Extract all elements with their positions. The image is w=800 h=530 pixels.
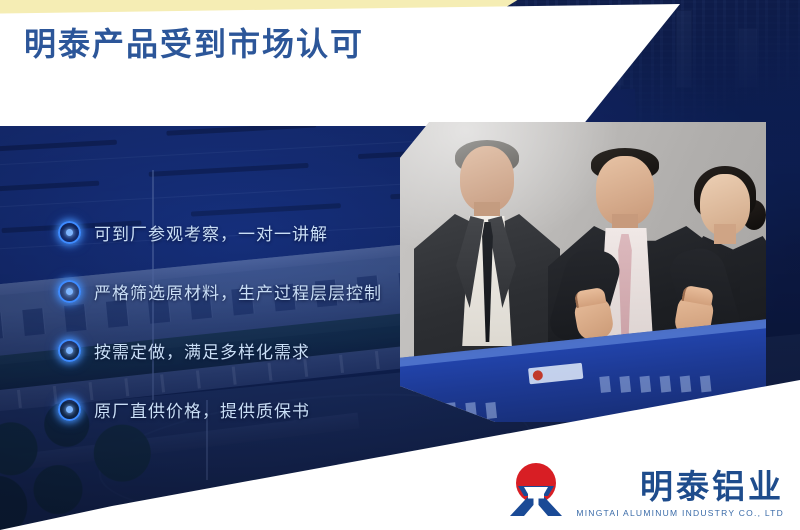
business-people-photo bbox=[400, 122, 766, 422]
feature-list: 可到厂参观考察，一对一讲解 严格筛选原材料，生产过程层层控制 按需定做，满足多样… bbox=[58, 216, 382, 425]
mingtai-sun-mountain-icon bbox=[504, 460, 568, 518]
target-circle-icon bbox=[58, 221, 81, 244]
target-circle-icon bbox=[58, 339, 81, 362]
feature-text: 严格筛选原材料，生产过程层层控制 bbox=[94, 279, 382, 304]
logo-wordmark: 明泰铝业 MINGTAI ALUMINUM INDUSTRY CO., LTD bbox=[576, 470, 784, 518]
company-logo[interactable]: 明泰铝业 MINGTAI ALUMINUM INDUSTRY CO., LTD bbox=[504, 460, 784, 518]
title-white-band bbox=[0, 4, 680, 126]
title-text: 明泰产品受到市场认可 bbox=[24, 27, 364, 62]
list-item: 可到厂参观考察，一对一讲解 bbox=[58, 216, 382, 248]
list-item: 按需定做，满足多样化需求 bbox=[58, 334, 382, 366]
logo-name-cn: 明泰铝业 bbox=[640, 470, 784, 503]
page-title: 明泰产品受到市场认可 bbox=[24, 27, 364, 62]
logo-name-en: MINGTAI ALUMINUM INDUSTRY CO., LTD bbox=[576, 508, 784, 518]
target-circle-icon bbox=[58, 280, 81, 303]
list-item: 严格筛选原材料，生产过程层层控制 bbox=[58, 275, 382, 307]
feature-text: 可到厂参观考察，一对一讲解 bbox=[94, 220, 328, 245]
promo-banner: 明泰产品受到市场认可 可到厂参观考察，一对一讲解 严格筛选原材料，生产过程层层控… bbox=[0, 0, 800, 530]
list-item: 原厂直供价格，提供质保书 bbox=[58, 393, 382, 425]
target-circle-icon bbox=[58, 398, 81, 421]
feature-text: 原厂直供价格，提供质保书 bbox=[94, 397, 310, 422]
feature-text: 按需定做，满足多样化需求 bbox=[94, 338, 310, 363]
